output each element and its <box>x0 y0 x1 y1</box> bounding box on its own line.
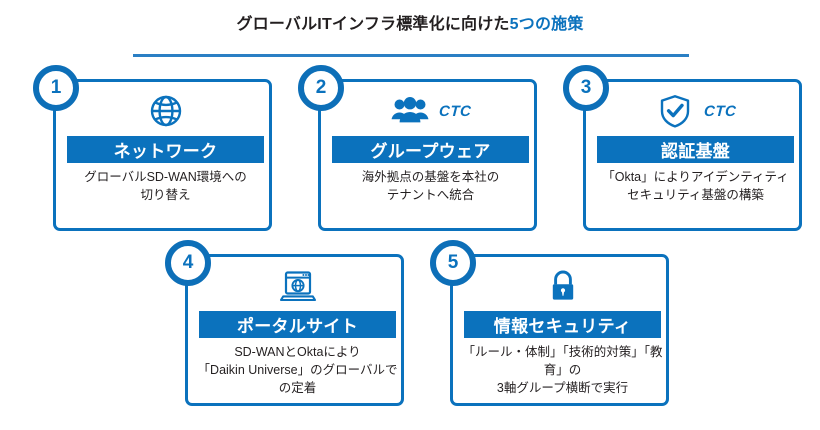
card-description: SD-WANとOktaにより 「Daikin Universe」のグローバルでの… <box>194 343 401 397</box>
step-number-label: 2 <box>316 78 327 98</box>
card-description-line2: 「Daikin Universe」のグローバルでの定着 <box>194 361 401 397</box>
card-heading-bar: グループウェア <box>332 136 529 163</box>
step-number-badge: 1 <box>33 65 79 111</box>
step-number-badge: 3 <box>563 65 609 111</box>
ctc-logo: CTC <box>438 104 471 119</box>
card-description: 「Okta」によりアイデンティティ セキュリティ基盤の構築 <box>592 168 799 204</box>
card-heading-label: 情報セキュリティ <box>494 312 631 337</box>
globe-icon <box>146 91 186 131</box>
card-heading-bar: ネットワーク <box>67 136 264 163</box>
measure-card-2[interactable]: 2 CTC グループウェア 海外拠点の基 <box>318 79 537 231</box>
people-group-icon <box>390 91 430 131</box>
infographic-canvas: グローバルITインフラ標準化に向けた5つの施策 1 <box>0 0 820 430</box>
card-heading-bar: 認証基盤 <box>597 136 794 163</box>
step-number-badge: 4 <box>165 240 211 286</box>
card-description-line2: セキュリティ基盤の構築 <box>592 186 799 204</box>
card-icon-row: CTC <box>321 88 540 134</box>
measure-card-1[interactable]: 1 ネットワーク グローバルSD-WAN環境への 切り替え <box>53 79 272 231</box>
card-heading-bar: ポータルサイト <box>199 311 396 338</box>
step-number-label: 5 <box>448 253 459 273</box>
step-number-badge: 2 <box>298 65 344 111</box>
page-title: グローバルITインフラ標準化に向けた5つの施策 <box>0 16 820 34</box>
card-description-line1: SD-WANとOktaにより <box>194 343 401 361</box>
card-description-line1: グローバルSD-WAN環境への <box>62 168 269 186</box>
step-number-label: 1 <box>51 78 62 98</box>
card-description-line2: 3軸グループ横断で実行 <box>459 379 666 397</box>
page-title-main: グローバルITインフラ標準化に向けた <box>236 16 509 33</box>
measure-card-4[interactable]: 4 <box>185 254 404 406</box>
ctc-logo: CTC <box>703 104 736 119</box>
title-underline-divider <box>133 54 689 57</box>
card-description-line1: 「Okta」によりアイデンティティ <box>592 168 799 186</box>
card-description: グローバルSD-WAN環境への 切り替え <box>62 168 269 204</box>
card-heading-label: グループウェア <box>370 137 490 162</box>
card-icon-row: CTC <box>586 88 805 134</box>
step-number-label: 3 <box>581 78 592 98</box>
card-icon-row <box>453 263 672 309</box>
card-description-line2: 切り替え <box>62 186 269 204</box>
card-description: 「ルール・体制」「技術的対策」「教育」の 3軸グループ横断で実行 <box>459 343 666 397</box>
card-description-line1: 「ルール・体制」「技術的対策」「教育」の <box>459 343 666 379</box>
laptop-browser-globe-icon <box>278 266 318 306</box>
step-number-badge: 5 <box>430 240 476 286</box>
card-icon-row <box>56 88 275 134</box>
card-heading-label: ポータルサイト <box>237 312 358 337</box>
card-icon-row <box>188 263 407 309</box>
card-heading-bar: 情報セキュリティ <box>464 311 661 338</box>
card-heading-label: ネットワーク <box>114 137 218 162</box>
measure-card-5[interactable]: 5 情報セキュリティ 「ルール・体制」「技術的対策」「教育」の 3軸グループ横断… <box>450 254 669 406</box>
measure-card-3[interactable]: 3 CTC 認証基盤 「Okta」によりアイデンティティ セキュリティ基盤の構築 <box>583 79 802 231</box>
page-title-highlight: 5つの施策 <box>510 16 584 33</box>
step-number-label: 4 <box>183 253 194 273</box>
card-description: 海外拠点の基盤を本社の テナントへ統合 <box>327 168 534 204</box>
card-description-line1: 海外拠点の基盤を本社の <box>327 168 534 186</box>
card-description-line2: テナントへ統合 <box>327 186 534 204</box>
card-heading-label: 認証基盤 <box>661 137 730 162</box>
shield-check-icon <box>655 91 695 131</box>
padlock-icon <box>543 266 583 306</box>
